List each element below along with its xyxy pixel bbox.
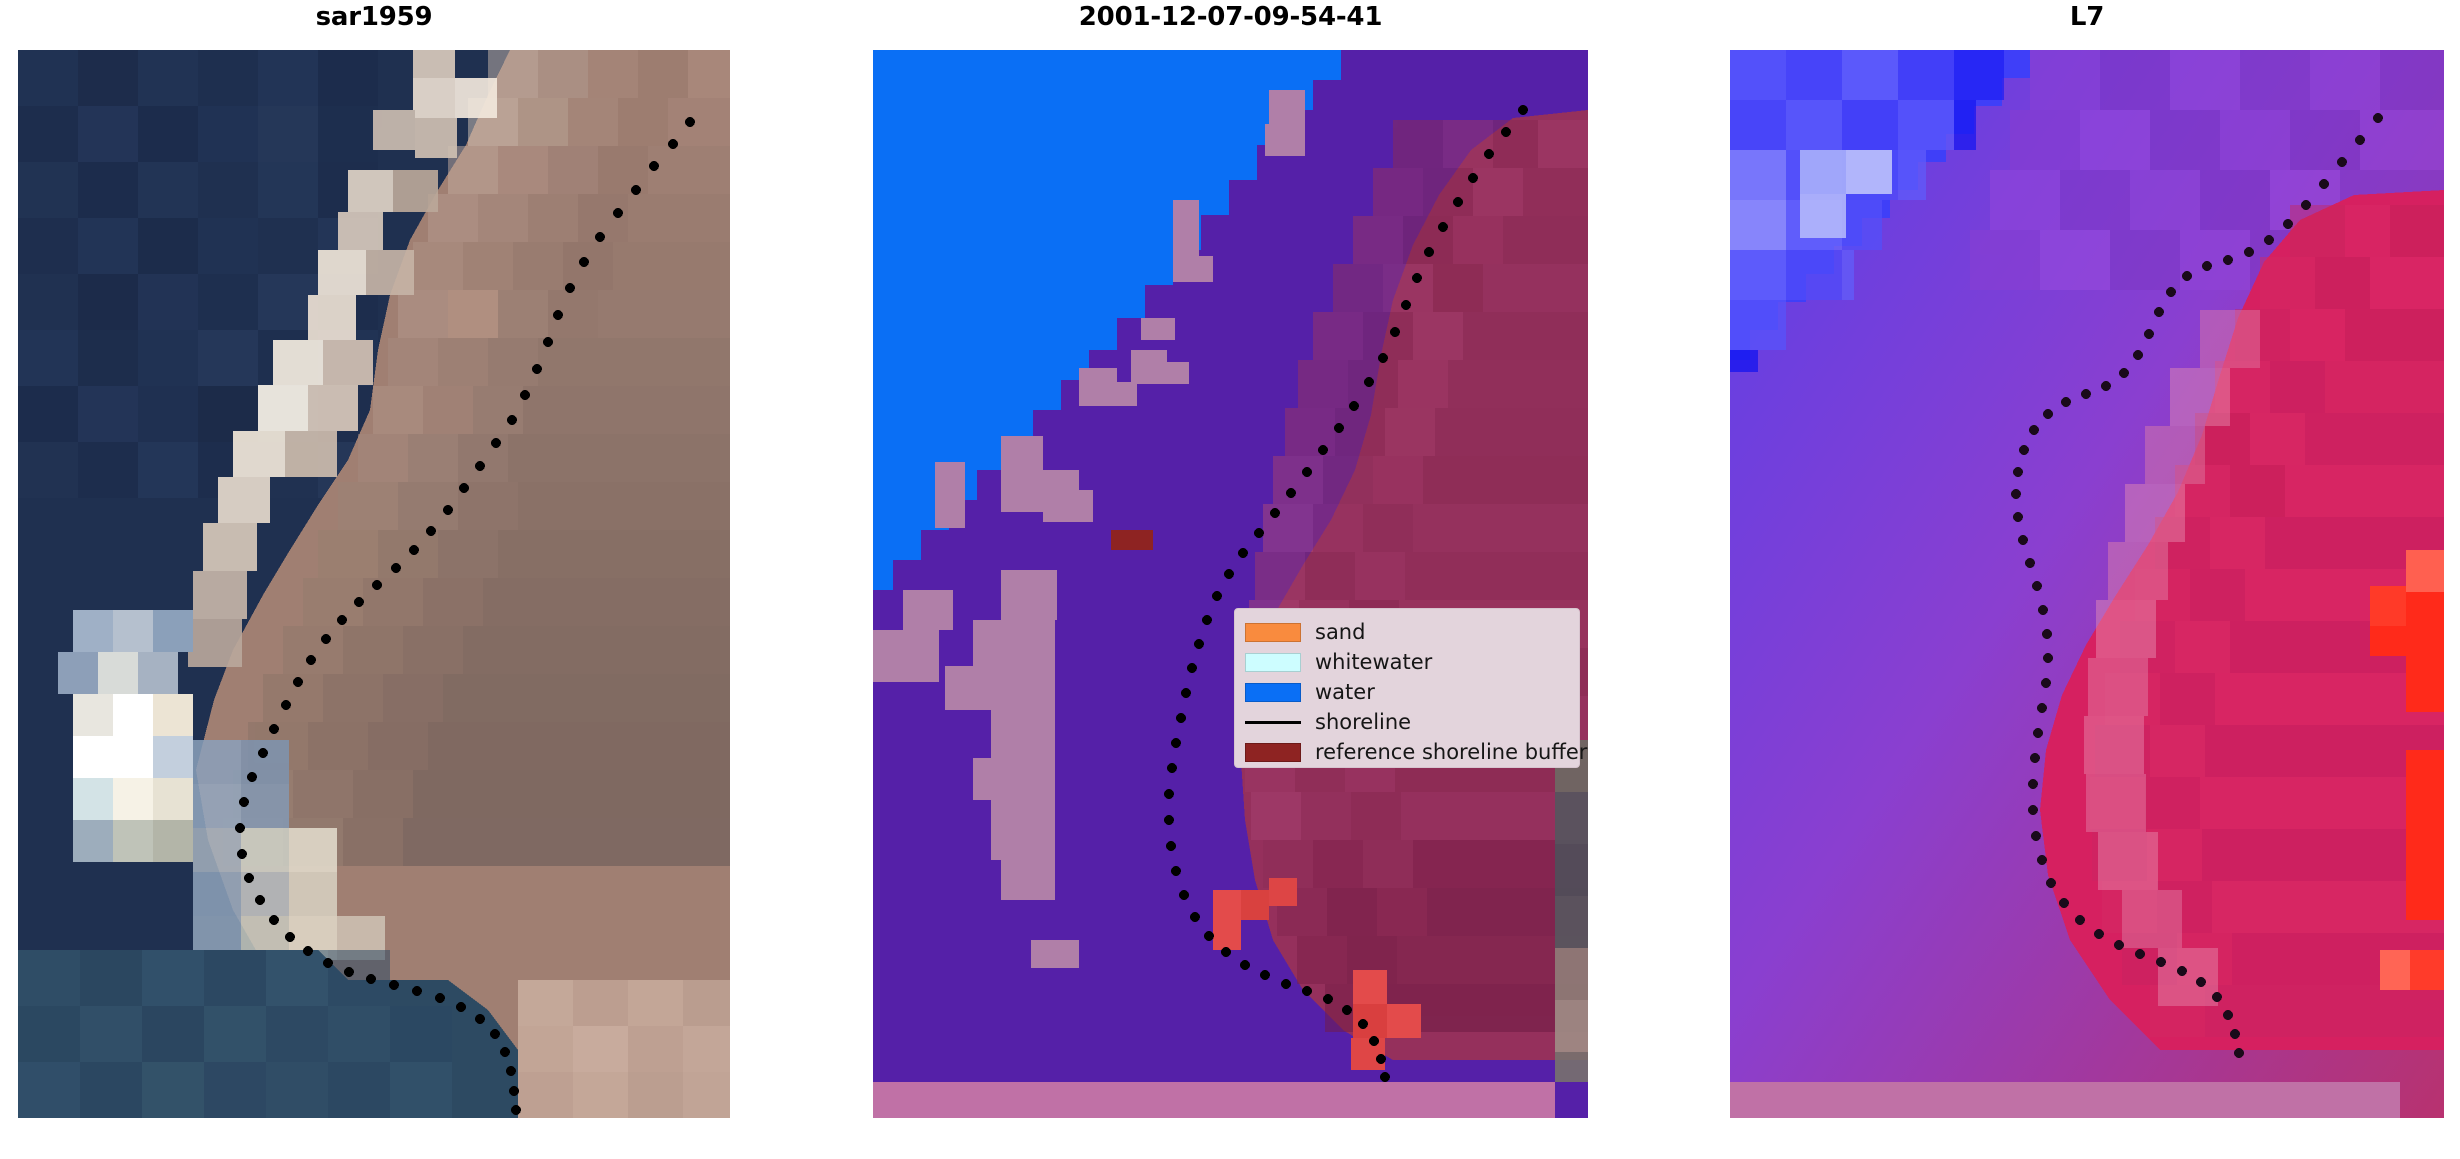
legend-swatch-whitewater — [1245, 653, 1301, 672]
panel-title-l7: L7 — [1730, 2, 2444, 32]
legend-swatch-shoreline — [1245, 721, 1301, 724]
legend-label-shoreline: shoreline — [1315, 712, 1411, 733]
legend-box: sand whitewater water shoreline referenc… — [1234, 608, 1580, 768]
panel-l7-image[interactable] — [1730, 50, 2444, 1118]
legend-item-shoreline: shoreline — [1245, 707, 1569, 737]
legend-label-sand: sand — [1315, 622, 1365, 643]
panel-sar-image[interactable] — [18, 50, 730, 1118]
legend-item-reference-buffer: reference shoreline buffer — [1245, 737, 1569, 767]
panel-title-sar: sar1959 — [18, 2, 730, 32]
legend-swatch-sand — [1245, 623, 1301, 642]
panel-title-classified: 2001-12-07-09-54-41 — [873, 2, 1588, 32]
legend-swatch-water — [1245, 683, 1301, 702]
legend-item-whitewater: whitewater — [1245, 647, 1569, 677]
figure-root: sar1959 — [0, 0, 2460, 1159]
l7-canvas — [1730, 50, 2444, 1118]
legend-label-whitewater: whitewater — [1315, 652, 1432, 673]
sar-canvas — [18, 50, 730, 1118]
legend-label-water: water — [1315, 682, 1375, 703]
legend-item-water: water — [1245, 677, 1569, 707]
legend-swatch-reference-buffer — [1245, 743, 1301, 762]
legend-item-sand: sand — [1245, 617, 1569, 647]
classified-canvas — [873, 50, 1588, 1118]
panel-classified-image[interactable] — [873, 50, 1588, 1118]
legend-label-reference-buffer: reference shoreline buffer — [1315, 742, 1587, 763]
